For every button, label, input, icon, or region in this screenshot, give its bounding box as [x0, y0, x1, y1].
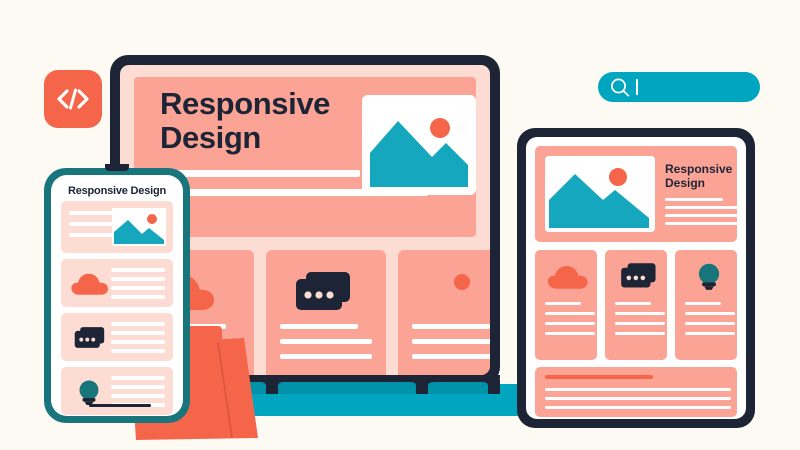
phone-card — [61, 367, 173, 415]
desktop-card-text-line — [280, 339, 372, 344]
tablet-hero-section: Responsive Design — [535, 146, 737, 242]
phone-card-text-line — [69, 211, 113, 215]
tablet-footer-text-line — [545, 388, 731, 391]
card-dots-icon — [294, 270, 354, 314]
tablet-column-row — [535, 250, 737, 360]
tablet-column-text-line — [615, 312, 665, 315]
illustration-canvas: Responsive Design — [0, 0, 800, 450]
tablet-column-text-line — [545, 322, 595, 325]
tablet-footer-text-line — [545, 397, 731, 400]
phone-card-text-line — [111, 286, 165, 290]
tablet-hero-text-line — [665, 206, 739, 209]
tablet-column-text-line — [545, 312, 595, 315]
phone-card-text-line — [111, 322, 165, 326]
desktop-card — [398, 250, 490, 375]
tablet-title-line1: Responsive — [665, 162, 732, 176]
desktop-text-line — [160, 170, 360, 177]
phone-card-text-line — [111, 331, 165, 335]
phone-home-indicator — [89, 404, 151, 407]
image-placeholder-icon — [418, 270, 482, 314]
tablet-page-title: Responsive Design — [665, 162, 732, 190]
phone-card-text-line — [111, 268, 165, 272]
phone-card-text-line — [111, 295, 165, 299]
desktop-card-text-line — [280, 354, 372, 359]
image-placeholder-icon — [112, 208, 166, 246]
phone-card — [61, 201, 173, 253]
image-placeholder-icon — [362, 95, 476, 195]
mobile-phone: Responsive Design — [44, 168, 190, 423]
phone-card-text-line — [111, 340, 165, 344]
tablet-column-text-line — [615, 332, 665, 335]
search-icon — [610, 78, 630, 97]
phone-card-text-line — [111, 385, 165, 389]
desktop-card-text-line — [412, 354, 490, 359]
desktop-title-line2: Design — [160, 121, 330, 155]
tablet-footer-text-line — [545, 406, 731, 409]
desktop-card-text-line — [280, 324, 358, 329]
cloud-icon — [547, 264, 589, 290]
card-dots-icon — [619, 262, 659, 290]
image-placeholder-icon — [545, 156, 655, 232]
phone-card — [61, 313, 173, 361]
search-text-cursor — [636, 79, 638, 95]
tablet-column-text-line — [685, 322, 735, 325]
tablet-column-text-line — [685, 332, 735, 335]
desktop-card-text-line — [412, 324, 490, 329]
tablet-column-text-line — [685, 302, 721, 305]
tablet-footer-section — [535, 367, 737, 417]
tablet-column — [535, 250, 597, 360]
phone-screen: Responsive Design — [51, 175, 183, 416]
phone-notch — [105, 164, 129, 171]
tablet-screen: Responsive Design — [526, 137, 746, 419]
tablet-hero-text-line — [665, 198, 723, 201]
lightbulb-icon — [74, 377, 104, 407]
phone-card-text-line — [111, 376, 165, 380]
phone-card — [61, 259, 173, 307]
tablet-device: Responsive Design — [517, 128, 755, 428]
tablet-column-text-line — [615, 302, 651, 305]
phone-card-text-line — [111, 394, 165, 398]
card-dots-icon — [71, 326, 109, 350]
tablet-column-text-line — [685, 312, 735, 315]
cloud-icon — [70, 272, 110, 296]
lightbulb-icon — [693, 260, 725, 292]
desktop-page-title: Responsive Design — [160, 87, 330, 155]
phone-card-text-line — [111, 349, 165, 353]
tablet-footer-accent-line — [545, 375, 653, 379]
tablet-hero-text-line — [665, 214, 739, 217]
phone-page-title: Responsive Design — [51, 185, 183, 197]
tablet-column-text-line — [615, 322, 665, 325]
tablet-column — [675, 250, 737, 360]
desktop-card-text-line — [412, 339, 490, 344]
desktop-title-line1: Responsive — [160, 87, 330, 121]
tablet-column-text-line — [545, 332, 595, 335]
search-bar[interactable] — [598, 72, 760, 102]
phone-card-text-line — [111, 277, 165, 281]
tablet-hero-text-line — [665, 222, 739, 225]
desktop-card — [266, 250, 386, 375]
code-brackets-icon — [44, 70, 102, 128]
tablet-title-line2: Design — [665, 176, 732, 190]
tablet-column-text-line — [545, 302, 581, 305]
tablet-column — [605, 250, 667, 360]
desktop-hero-image-card — [362, 95, 476, 195]
